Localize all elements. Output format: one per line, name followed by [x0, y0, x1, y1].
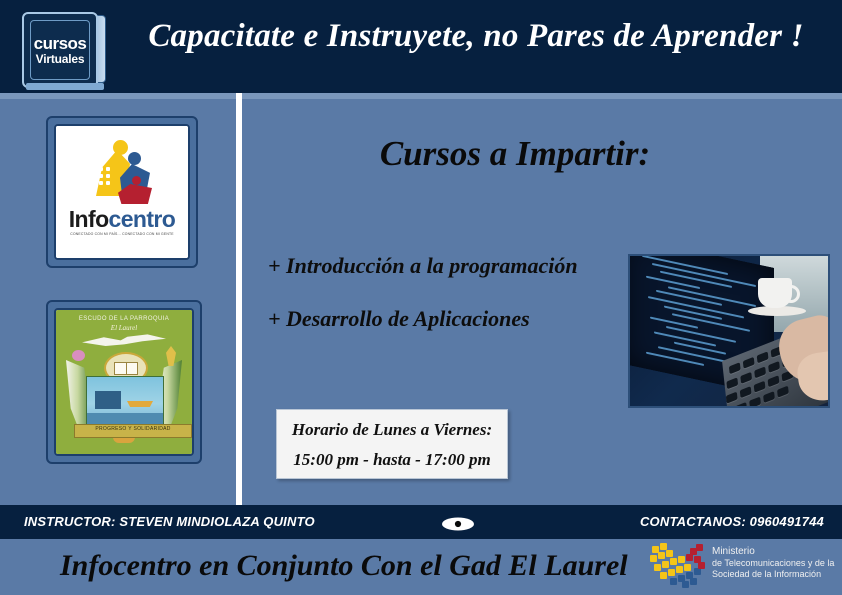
- contact-label: CONTACTANOS: 0960491744: [640, 514, 824, 529]
- escudo-banner: PROGRESO Y SOLIDARIDAD: [74, 424, 192, 438]
- bottom-info-bar: INSTRUCTOR: STEVEN MINDIOLAZA QUINTO CON…: [0, 505, 842, 539]
- ministry-name: Ministerio de Telecomunicaciones y de la…: [712, 546, 840, 581]
- eye-icon: [441, 517, 475, 531]
- pixel-dots-icon: [92, 160, 118, 190]
- column-divider: [236, 93, 242, 505]
- coffee-cup-icon: [758, 278, 792, 308]
- infocentro-logo-frame: Infocentro CONECTADO CON MI PAÍS... CONE…: [46, 116, 198, 268]
- header-title: Capacitate e Instruyete, no Pares de Apr…: [120, 18, 832, 55]
- infocentro-wordmark-light: centro: [109, 206, 176, 232]
- escudo-coat-of-arms: ESCUDO DE LA PARROQUIA El Laurel PROG: [56, 310, 192, 454]
- book-cover-icon: cursos Virtuales: [22, 12, 98, 88]
- cursos-virtuales-logo: cursos Virtuales: [22, 12, 106, 84]
- bird-icon: [82, 332, 166, 352]
- figure-blue-head-icon: [128, 152, 141, 165]
- book-inner-frame: cursos Virtuales: [30, 20, 90, 80]
- ministry-line-1: Ministerio: [712, 546, 840, 558]
- infocentro-wordmark-bold: Info: [69, 206, 109, 232]
- ministry-mark-icon: [650, 542, 708, 590]
- infocentro-tagline: CONECTADO CON MI PAÍS... CONECTADO CON M…: [56, 232, 188, 236]
- escudo-logo-frame: ESCUDO DE LA PARROQUIA El Laurel PROG: [46, 300, 202, 464]
- ministry-logo: Ministerio de Telecomunicaciones y de la…: [650, 540, 840, 592]
- schedule-box: Horario de Lunes a Viernes: 15:00 pm - h…: [276, 409, 508, 479]
- laptop-coding-photo: [628, 254, 830, 408]
- escudo-script-text: El Laurel: [56, 324, 192, 332]
- main-title: Cursos a Impartir:: [300, 134, 730, 174]
- schedule-hours: 15:00 pm - hasta - 17:00 pm: [277, 450, 507, 470]
- open-book-icon: [114, 362, 138, 375]
- flower-icon: [72, 350, 85, 361]
- logo-line-1: cursos: [34, 35, 87, 52]
- instructor-label: INSTRUCTOR: STEVEN MINDIOLAZA QUINTO: [24, 514, 315, 529]
- infocentro-logo-inner: Infocentro CONECTADO CON MI PAÍS... CONE…: [54, 124, 190, 260]
- infocentro-wordmark: Infocentro: [56, 206, 188, 233]
- figure-red-head-icon: [132, 176, 141, 185]
- escudo-banner-text: PROGRESO Y SOLIDARIDAD: [75, 426, 191, 432]
- footer-title: Infocentro en Conjunto Con el Gad El Lau…: [60, 549, 628, 583]
- logo-line-2: Virtuales: [36, 52, 85, 66]
- escudo-top-text: ESCUDO DE LA PARROQUIA: [56, 316, 192, 322]
- infocentro-logo: Infocentro CONECTADO CON MI PAÍS... CONE…: [56, 126, 188, 258]
- book-base-icon: [26, 83, 104, 90]
- boat-icon: [127, 401, 153, 407]
- schedule-days: Horario de Lunes a Viernes:: [277, 420, 507, 440]
- wheat-icon: [166, 346, 176, 366]
- course-item: + Desarrollo de Aplicaciones: [268, 306, 530, 332]
- poster-root: cursos Virtuales Capacitate e Instruyete…: [0, 0, 842, 595]
- house-icon: [95, 391, 121, 409]
- header-bar: cursos Virtuales Capacitate e Instruyete…: [0, 0, 842, 93]
- ministry-line-3: Sociedad de la Información: [712, 569, 840, 581]
- header-underline-strip: [0, 93, 842, 99]
- course-item: + Introducción a la programación: [268, 253, 578, 279]
- ministry-line-2: de Telecomunicaciones y de la: [712, 558, 840, 570]
- escudo-logo-inner: ESCUDO DE LA PARROQUIA El Laurel PROG: [54, 308, 194, 456]
